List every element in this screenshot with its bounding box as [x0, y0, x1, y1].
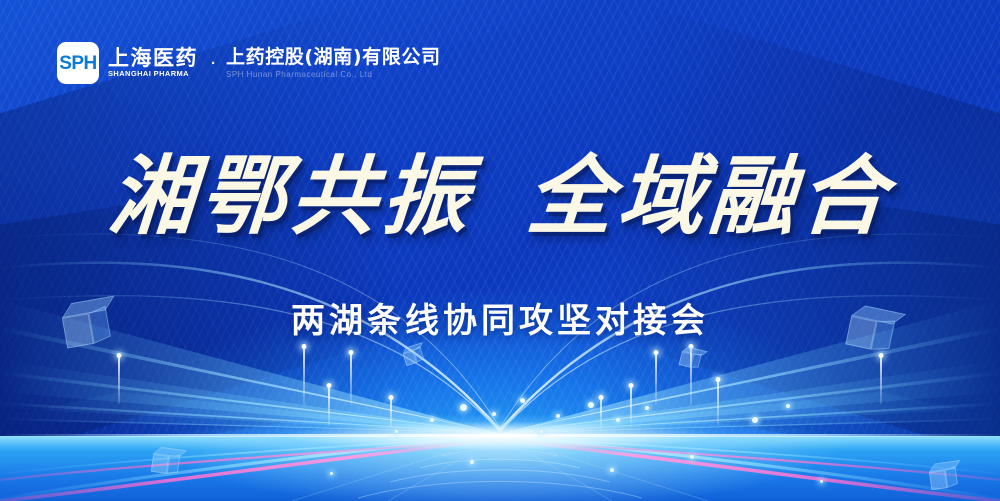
headline-part-1: 湘鄂共振 — [105, 152, 475, 242]
sparkle-dot — [556, 414, 560, 418]
sparkle-dot — [460, 404, 467, 411]
light-pole — [328, 386, 330, 426]
company-name-cn: 上海医药 — [108, 48, 198, 69]
sparkle-dot — [520, 398, 525, 403]
sparkle-dot — [786, 404, 790, 408]
sparkle-dot — [492, 412, 496, 416]
company-name-en: SHANGHAI PHARMA — [108, 70, 198, 77]
cube-face-top — [403, 342, 423, 354]
cube-face-top — [682, 347, 708, 356]
subsidiary-name-cn: 上药控股(湖南)有限公司 — [226, 48, 441, 67]
subtitle-text: 两湖条线协同攻坚对接会 — [291, 301, 709, 341]
light-pole — [630, 386, 632, 426]
floating-cube — [677, 345, 707, 375]
floating-cube — [401, 342, 429, 370]
perspective-ground-plane — [0, 436, 1000, 501]
headline: 湘鄂共振 全域融合 — [0, 152, 1000, 242]
light-pole — [118, 356, 120, 404]
subsidiary-name-en: SPH Hunan Pharmaceutical Co., Ltd — [226, 71, 441, 79]
cube-face-right — [413, 347, 423, 363]
sparkle-dot — [616, 418, 620, 422]
sparkle-dot — [645, 406, 649, 410]
light-pole — [690, 347, 692, 405]
cube-face-left — [679, 351, 694, 368]
subsidiary-name-block: 上药控股(湖南)有限公司 SPH Hunan Pharmaceutical Co… — [226, 48, 441, 79]
sparkle-dot — [540, 430, 543, 433]
cube-face-left — [403, 351, 418, 366]
sparkle-dot — [752, 417, 758, 423]
light-pole — [303, 347, 305, 405]
cube-face-right — [691, 354, 703, 368]
light-pole — [350, 353, 352, 405]
light-pole — [600, 398, 602, 428]
event-banner: SPH 上海医药 SHANGHAI PHARMA · 上药控股(湖南)有限公司 … — [0, 0, 1000, 501]
company-name-block: 上海医药 SHANGHAI PHARMA — [108, 48, 198, 78]
sph-logo-badge: SPH — [57, 42, 99, 84]
subtitle: 两湖条线协同攻坚对接会 — [0, 293, 1000, 342]
corporate-logo-lockup: SPH 上海医药 SHANGHAI PHARMA · 上药控股(湖南)有限公司 … — [57, 42, 441, 84]
light-pole — [655, 353, 657, 405]
light-pole — [717, 380, 719, 425]
sparkle-dot — [395, 430, 398, 433]
logo-separator-dot: · — [211, 55, 216, 72]
light-pole — [390, 398, 392, 428]
sparkle-dot — [588, 402, 594, 408]
sparkle-dot — [430, 418, 434, 422]
sph-logo-text: SPH — [59, 54, 97, 73]
headline-part-2: 全域融合 — [524, 152, 894, 242]
light-pole — [880, 356, 882, 404]
